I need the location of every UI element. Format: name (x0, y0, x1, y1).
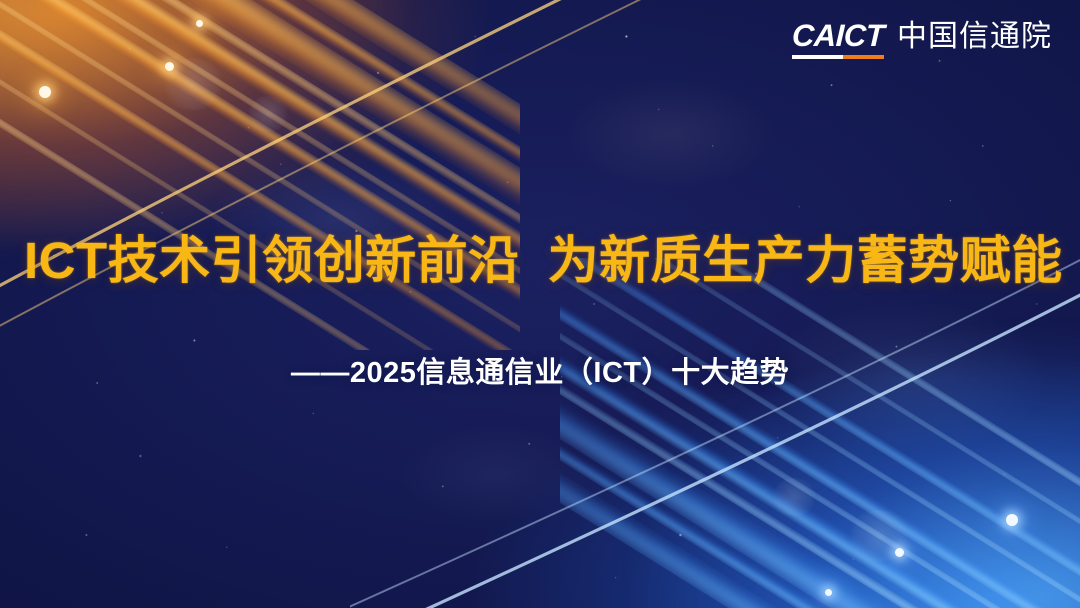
bokeh-cool-1 (846, 510, 912, 562)
caict-underline-bar (792, 55, 884, 59)
glow-dot-warm-2 (165, 62, 174, 71)
bokeh-warm-1 (160, 58, 226, 110)
slide-title: ICT技术引领创新前沿为新质生产力蓄势赋能 (24, 232, 1056, 290)
glow-dot-cool-1 (1006, 514, 1018, 526)
bokeh-warm-2 (246, 96, 290, 132)
bokeh-cool-2 (770, 478, 818, 516)
slide-title-part-two: 为新质生产力蓄势赋能 (548, 232, 1063, 289)
caict-wordmark-block: CAICT (792, 20, 884, 59)
glow-dot-cool-3 (825, 589, 832, 596)
slide-title-part-one: ICT技术引领创新前沿 (24, 232, 520, 289)
slide-subtitle: ——2025信息通信业（ICT）十大趋势 (24, 349, 1056, 391)
caict-wordmark: CAICT (791, 20, 884, 52)
glow-dot-cool-2 (895, 548, 904, 557)
caict-logo: CAICT 中国信通院 (792, 20, 1052, 59)
caict-name-cn: 中国信通院 (897, 20, 1052, 54)
top-left-warm-glow (0, 0, 420, 260)
presentation-slide: CAICT 中国信通院 ICT技术引领创新前沿为新质生产力蓄势赋能 ——2025… (0, 0, 1080, 608)
headline-block: ICT技术引领创新前沿为新质生产力蓄势赋能 ——2025信息通信业（ICT）十大… (0, 232, 1080, 391)
underline-segment-orange (843, 55, 885, 59)
glow-dot-warm-1 (39, 86, 51, 98)
underline-segment-white (792, 55, 843, 59)
glow-dot-warm-3 (196, 20, 203, 27)
